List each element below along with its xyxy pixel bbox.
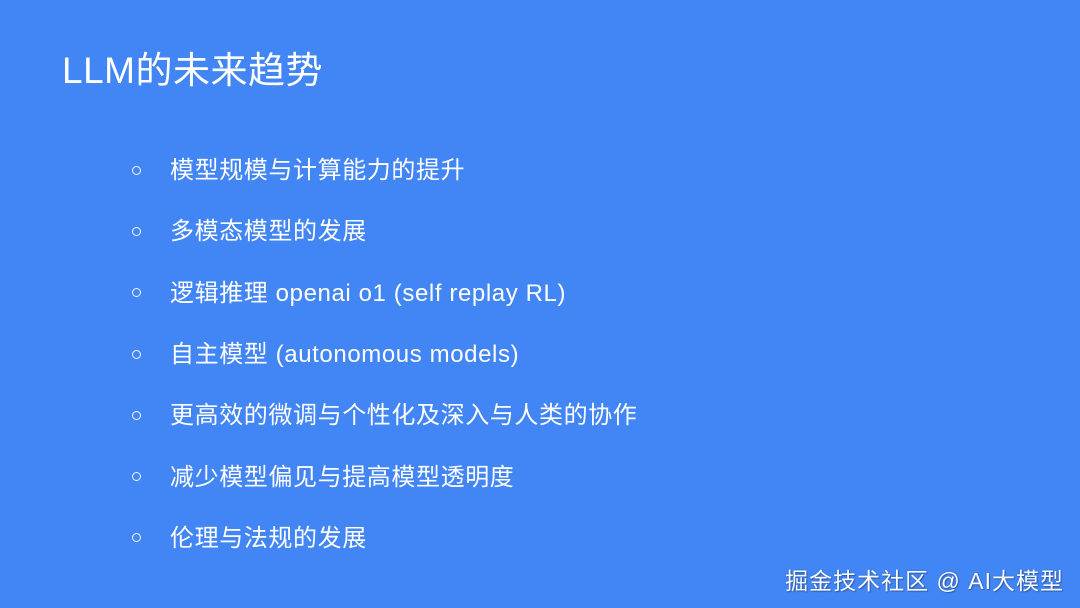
list-item-label: 减少模型偏见与提高模型透明度 bbox=[170, 462, 514, 493]
list-item[interactable]: 逻辑推理 openai o1 (self replay RL) bbox=[128, 263, 1028, 324]
list-item[interactable]: 减少模型偏见与提高模型透明度 bbox=[128, 446, 1028, 507]
watermark: 掘金技术社区 @ AI大模型 bbox=[785, 562, 1064, 596]
slide-canvas: LLM的未来趋势 模型规模与计算能力的提升 多模态模型的发展 逻辑推理 open… bbox=[0, 0, 1080, 608]
list-item-label: 逻辑推理 openai o1 (self replay RL) bbox=[170, 278, 566, 309]
hollow-circle-bullet-icon bbox=[132, 166, 141, 175]
hollow-circle-bullet-icon bbox=[132, 472, 141, 481]
hollow-circle-bullet-icon bbox=[132, 227, 141, 236]
hollow-circle-bullet-icon bbox=[132, 533, 141, 542]
list-item-label: 更高效的微调与个性化及深入与人类的协作 bbox=[170, 400, 637, 431]
bullet-list: 模型规模与计算能力的提升 多模态模型的发展 逻辑推理 openai o1 (se… bbox=[128, 140, 1028, 569]
list-item[interactable]: 自主模型 (autonomous models) bbox=[128, 324, 1028, 385]
list-item[interactable]: 多模态模型的发展 bbox=[128, 201, 1028, 262]
hollow-circle-bullet-icon bbox=[132, 411, 141, 420]
list-item-label: 模型规模与计算能力的提升 bbox=[170, 155, 465, 186]
page-title: LLM的未来趋势 bbox=[62, 48, 323, 94]
hollow-circle-bullet-icon bbox=[132, 350, 141, 359]
list-item[interactable]: 更高效的微调与个性化及深入与人类的协作 bbox=[128, 385, 1028, 446]
list-item[interactable]: 模型规模与计算能力的提升 bbox=[128, 140, 1028, 201]
hollow-circle-bullet-icon bbox=[132, 288, 141, 297]
list-item[interactable]: 伦理与法规的发展 bbox=[128, 508, 1028, 569]
list-item-label: 自主模型 (autonomous models) bbox=[170, 339, 519, 370]
list-item-label: 多模态模型的发展 bbox=[170, 216, 367, 247]
list-item-label: 伦理与法规的发展 bbox=[170, 523, 367, 554]
